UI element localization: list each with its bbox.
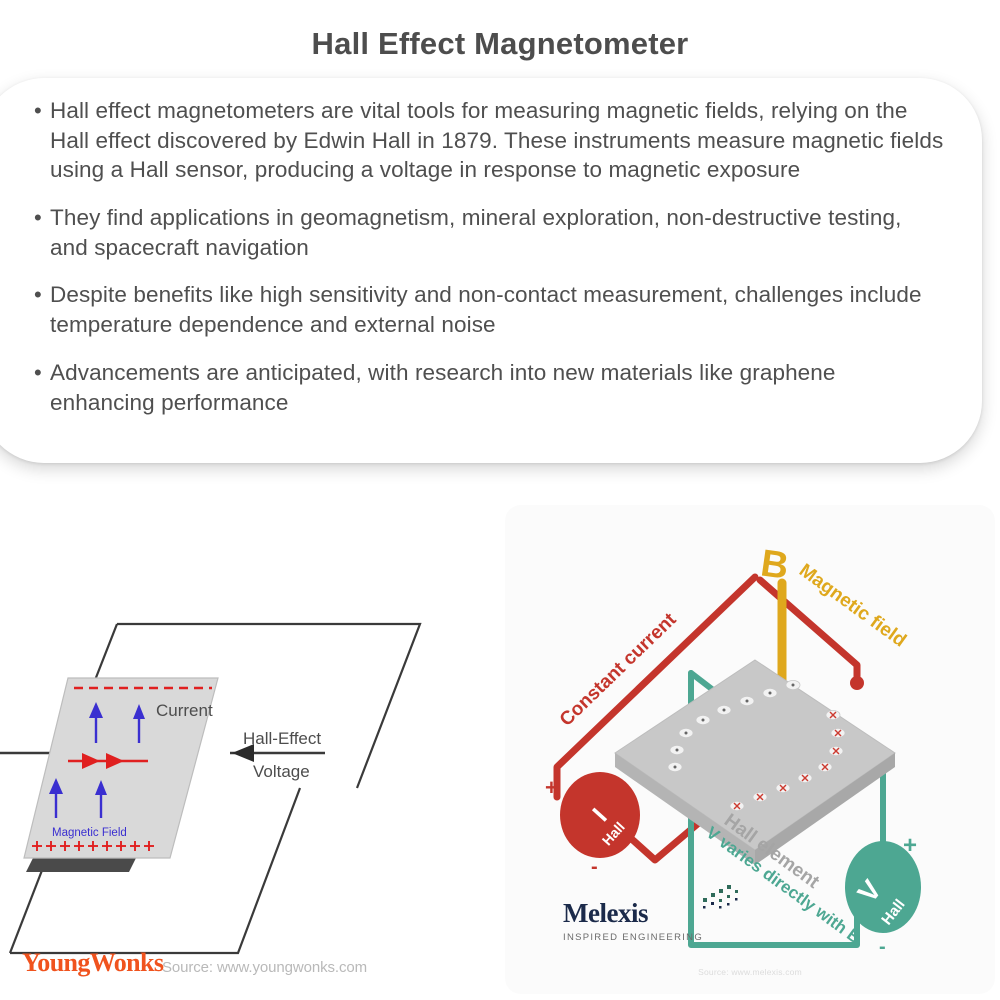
list-item-text: Advancements are anticipated, with resea… <box>50 360 836 415</box>
melexis-dots-icon <box>683 884 743 914</box>
voltage-meter-plus-sign: + <box>903 832 917 859</box>
bullet-marker-icon: • <box>34 358 42 387</box>
current-source-plus-sign: + <box>545 775 558 800</box>
magnetic-field-symbol: B <box>758 542 791 587</box>
magnetic-field-text-label: Magnetic field <box>795 560 910 651</box>
melexis-tagline: INSPIRED ENGINEERING <box>563 932 733 943</box>
bullet-marker-icon: • <box>34 96 42 125</box>
youngwonks-logo: YoungWonks <box>22 948 163 978</box>
current-source-minus-sign: - <box>591 856 598 878</box>
bullet-marker-icon: • <box>34 203 42 232</box>
figures-row: Magnetic Field Current Hall-Effect Volta… <box>0 498 1000 1000</box>
list-item-text: Hall effect magnetometers are vital tool… <box>50 98 943 182</box>
voltage-meter-minus-sign: - <box>879 936 886 958</box>
current-label: Current <box>156 701 213 720</box>
page-title: Hall Effect Magnetometer <box>0 0 1000 62</box>
hall-effect-voltage-label-line1: Hall-Effect <box>243 729 321 748</box>
source-credit: Source: www.youngwonks.com <box>162 959 367 976</box>
hall-effect-voltage-label-line2: Voltage <box>253 762 310 781</box>
positive-charge-row <box>32 841 154 851</box>
list-item-text: They find applications in geomagnetism, … <box>50 205 901 260</box>
info-card: • Hall effect magnetometers are vital to… <box>0 78 982 463</box>
list-item: • Advancements are anticipated, with res… <box>34 358 944 417</box>
list-item: • Despite benefits like high sensitivity… <box>34 280 944 339</box>
bullet-list: • Hall effect magnetometers are vital to… <box>34 96 944 417</box>
hall-effect-voltage-figure: Magnetic Field Current Hall-Effect Volta… <box>0 498 500 1000</box>
list-item: • They find applications in geomagnetism… <box>34 203 944 262</box>
list-item: • Hall effect magnetometers are vital to… <box>34 96 944 185</box>
magnetic-field-label: Magnetic Field <box>52 827 127 839</box>
hall-effect-voltage-svg: Magnetic Field Current Hall-Effect Volta… <box>0 498 500 958</box>
current-contact-top <box>850 676 864 690</box>
melexis-logo: Melexis INSPIRED ENGINEERING <box>563 900 733 943</box>
bullet-marker-icon: • <box>34 280 42 309</box>
melexis-source-credit: Source: www.melexis.com <box>505 967 995 977</box>
melexis-hall-element-figure: I Hall + - V Hall + - B Magnetic field C… <box>505 505 995 994</box>
list-item-text: Despite benefits like high sensitivity a… <box>50 282 922 337</box>
